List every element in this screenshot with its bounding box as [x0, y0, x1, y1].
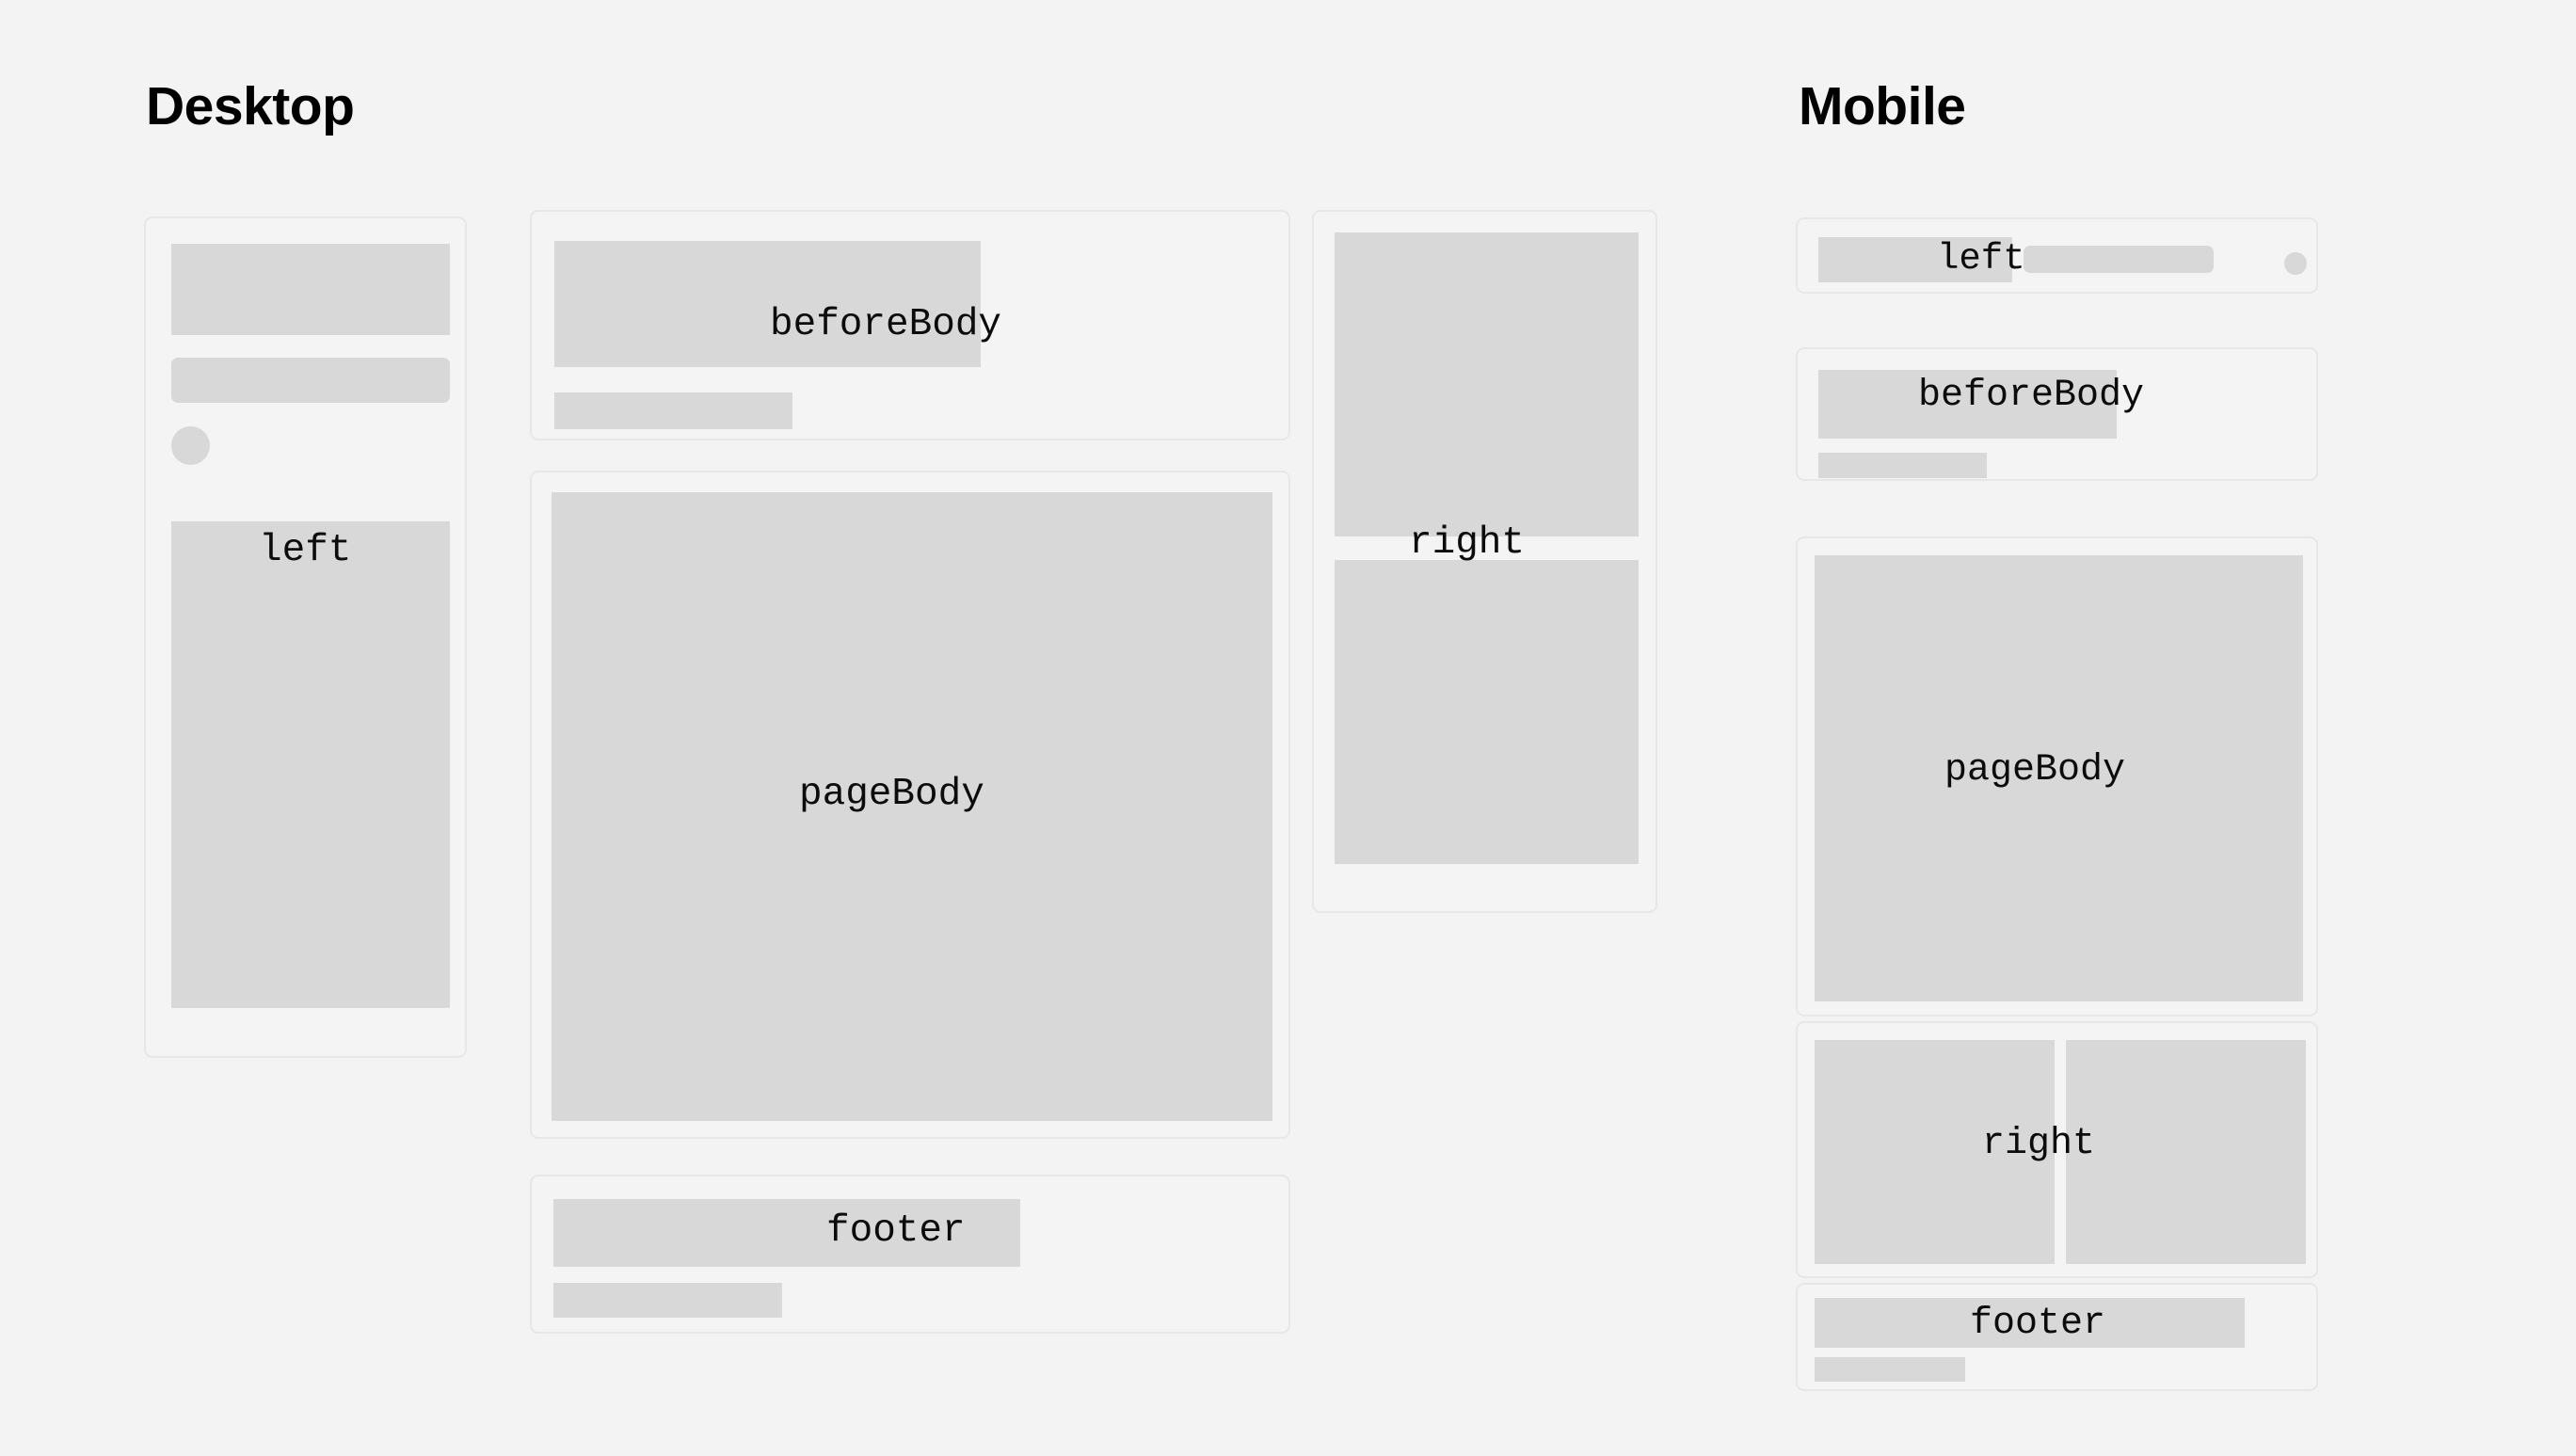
skeleton-bar: [171, 358, 450, 403]
wireframe-canvas: Desktop left beforeBody pageBody right f…: [0, 0, 2576, 1456]
desktop-pagebody-slot-block: [552, 492, 1272, 1121]
desktop-right-panel[interactable]: right: [1312, 210, 1657, 913]
skeleton-block-footer: [1815, 1298, 2245, 1348]
mobile-left-panel[interactable]: left: [1796, 217, 2318, 294]
skeleton-bar-footer: [1815, 1357, 1965, 1382]
desktop-right-slot-block-bottom: [1335, 560, 1639, 864]
desktop-left-panel[interactable]: left: [144, 216, 467, 1058]
desktop-beforebody-panel[interactable]: beforeBody: [530, 210, 1290, 440]
mobile-right-slot-block-right: [2066, 1040, 2306, 1264]
skeleton-block-wide: [1818, 370, 2117, 439]
skeleton-bar-small: [554, 392, 792, 429]
skeleton-avatar-circle: [2284, 252, 2307, 275]
mobile-right-panel[interactable]: right: [1796, 1021, 2318, 1278]
skeleton-bar-small: [1818, 453, 1987, 478]
mobile-pagebody-panel[interactable]: pageBody: [1796, 536, 2318, 1016]
skeleton-avatar-circle: [171, 426, 210, 465]
mobile-pagebody-slot-block: [1815, 555, 2303, 1001]
skeleton-block-hero: [1818, 237, 2012, 282]
skeleton-block-footer: [553, 1199, 1020, 1267]
mobile-right-slot-block-left: [1815, 1040, 2055, 1264]
mobile-beforebody-panel[interactable]: beforeBody: [1796, 347, 2318, 481]
desktop-footer-panel[interactable]: footer: [530, 1175, 1290, 1334]
desktop-section-title: Desktop: [146, 80, 354, 134]
skeleton-block-wide: [554, 241, 981, 367]
skeleton-bar-footer: [553, 1283, 782, 1318]
skeleton-bar: [2024, 246, 2214, 273]
desktop-pagebody-panel[interactable]: pageBody: [530, 471, 1290, 1139]
desktop-right-slot-block-top: [1335, 232, 1639, 536]
mobile-footer-panel[interactable]: footer: [1796, 1283, 2318, 1391]
mobile-section-title: Mobile: [1799, 80, 1966, 134]
skeleton-block-hero: [171, 244, 450, 335]
desktop-left-slot-block: [171, 521, 450, 1008]
